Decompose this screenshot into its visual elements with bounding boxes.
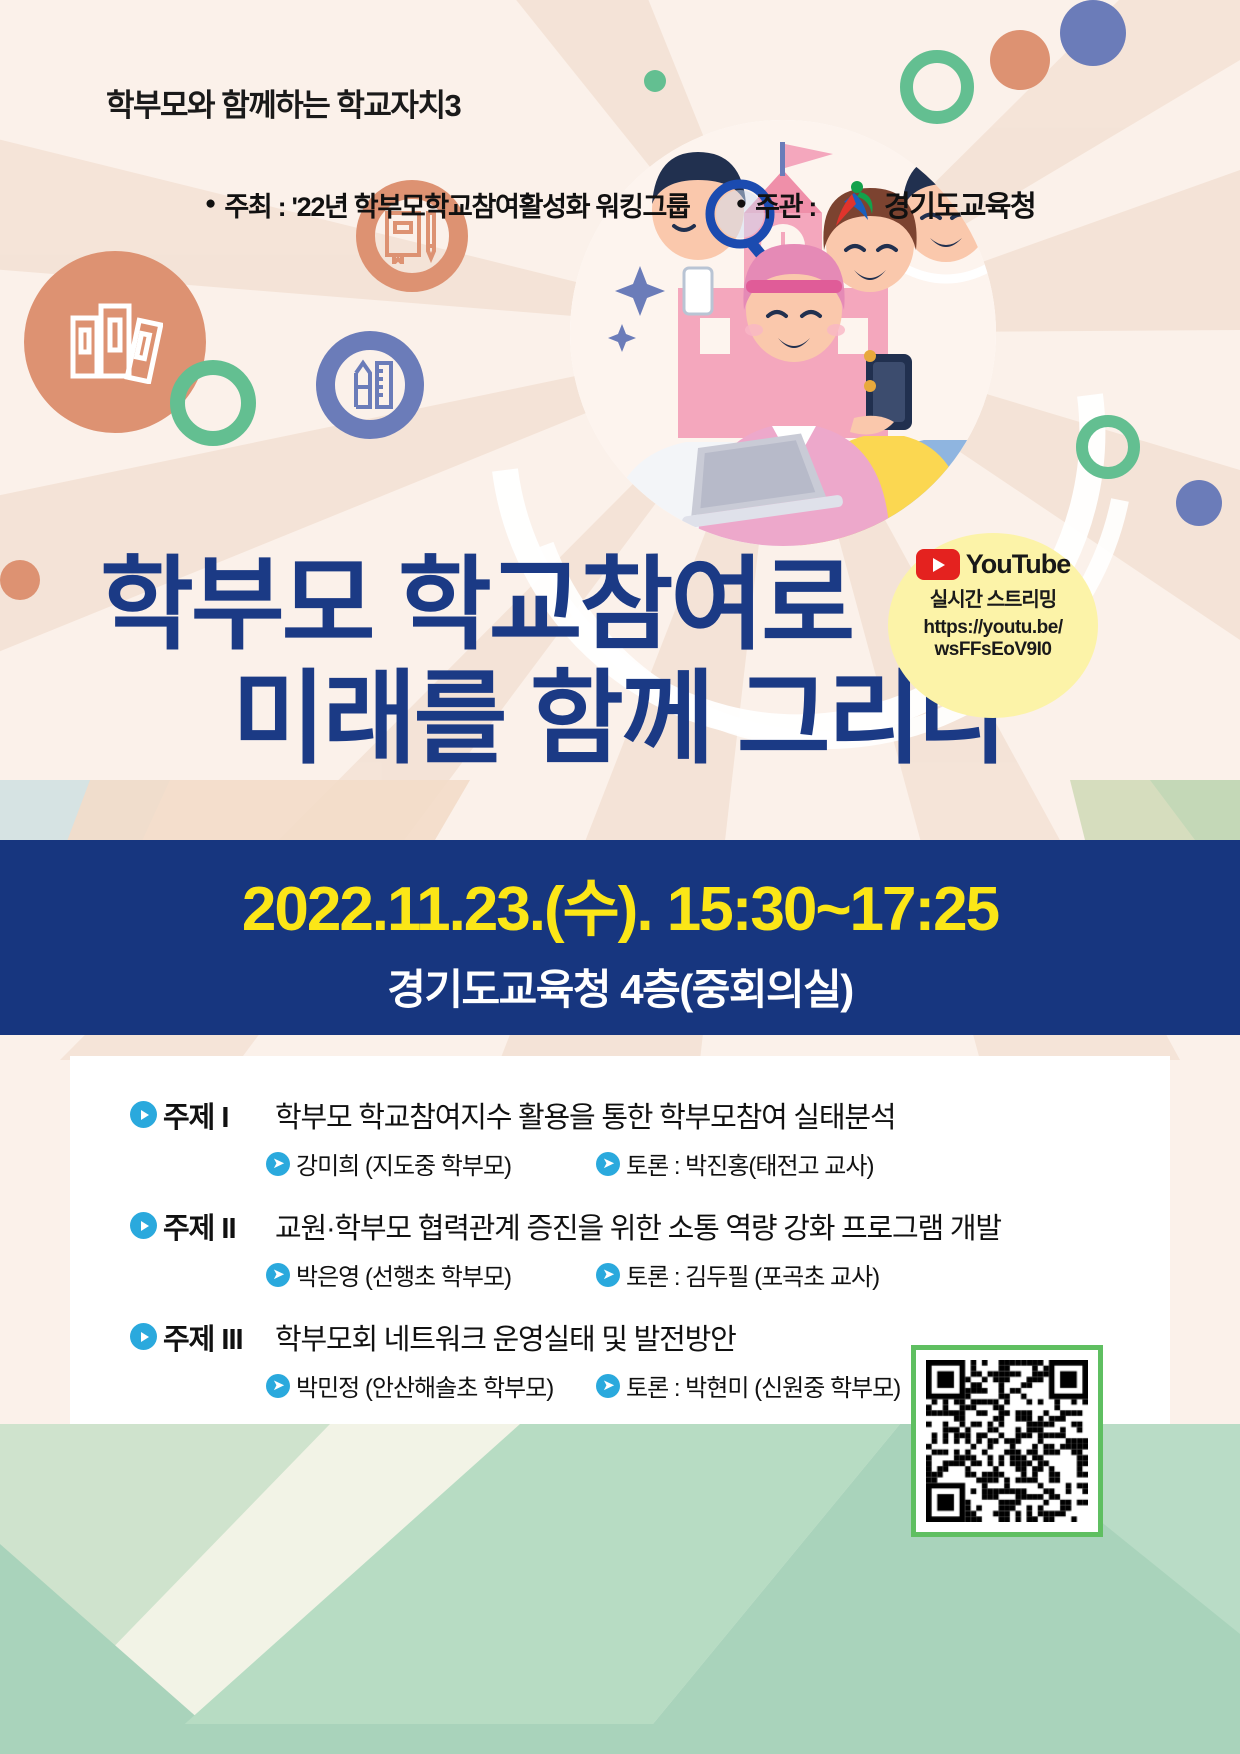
youtube-logo: YouTube (916, 549, 1070, 580)
arrow-right-icon: ➤ (596, 1374, 620, 1398)
qr-code-canvas (926, 1360, 1088, 1522)
session-2-discussant: ➤ 토론 : 김두필 (포곡초 교사) (596, 1257, 879, 1292)
play-bullet-icon (130, 1323, 157, 1350)
footer-organizer: ● 주관 : 경기도교육청 (736, 180, 1036, 228)
youtube-url-line1: https://youtu.be/ (923, 617, 1062, 638)
play-bullet-icon (130, 1212, 157, 1239)
qr-code-icon[interactable] (911, 1345, 1103, 1537)
green-ring-top (900, 50, 974, 124)
session-2-number: 주제 II (163, 1205, 275, 1247)
youtube-subtitle: 실시간 스트리밍 (930, 583, 1056, 612)
session-3-presenter: ➤ 박민정 (안산해솔초 학부모) (266, 1368, 596, 1403)
session-1-title: 학부모 학교참여지수 활용을 통한 학부모참여 실태분석 (275, 1094, 895, 1136)
poster-canvas: 학부모와 함께하는 학교자치3 YouTube 실시간 스트리밍 https:/… (0, 0, 1240, 1754)
session-1-header: 주제 I 학부모 학교참여지수 활용을 통한 학부모참여 실태분석 (70, 1094, 1170, 1136)
bullet-dot-icon: ● (205, 193, 216, 215)
youtube-play-icon (916, 549, 960, 580)
session-1-people: ➤ 강미희 (지도중 학부모) ➤ 토론 : 박진홍(태전고 교사) (70, 1146, 1170, 1181)
periwinkle-dot-top (1060, 0, 1126, 66)
pencil-ruler-icon-circle (316, 331, 424, 439)
footer-credits: ● 주최 : '22년 학부모학교참여활성화 워킹그룹 ● 주관 : 경기도교육… (0, 180, 1240, 228)
session-1-discussant: ➤ 토론 : 박진홍(태전고 교사) (596, 1146, 873, 1181)
schedule-band: 2022.11.23.(수). 15:30~17:25 경기도교육청 4층(중회… (0, 840, 1240, 1035)
play-bullet-icon (130, 1101, 157, 1128)
event-date-time: 2022.11.23.(수). 15:30~17:25 (242, 858, 998, 948)
green-ring-right (1076, 415, 1140, 479)
arrow-right-icon: ➤ (596, 1152, 620, 1176)
youtube-url-line2: wsFFsEoV9I0 (934, 639, 1051, 660)
green-dot-small (644, 70, 666, 92)
session-1-presenter: ➤ 강미희 (지도중 학부모) (266, 1146, 596, 1181)
periwinkle-dot-right (1176, 480, 1222, 526)
page-title: 학부모 학교참여로 미래를 함께 그리다 (0, 548, 1040, 776)
arrow-right-icon: ➤ (266, 1374, 290, 1398)
bullet-dot-icon: ● (736, 193, 747, 215)
session-2: 주제 II 교원·학부모 협력관계 증진을 위한 소통 역량 강화 프로그램 개… (70, 1205, 1170, 1292)
session-1-number: 주제 I (163, 1094, 275, 1136)
gyeonggi-education-logo: 경기도교육청 (830, 180, 1035, 228)
event-venue: 경기도교육청 4층(중회의실) (387, 956, 853, 1017)
youtube-url[interactable]: https://youtu.be/ wsFFsEoV9I0 (923, 617, 1062, 662)
session-3-discussant: ➤ 토론 : 박현미 (신원중 학부모) (596, 1368, 900, 1403)
arrow-right-icon: ➤ (596, 1263, 620, 1287)
page-kicker: 학부모와 함께하는 학교자치3 (106, 80, 460, 125)
pencil-ruler-icon (344, 357, 396, 413)
youtube-wordmark: YouTube (966, 549, 1070, 580)
title-line-1: 학부모 학교참여로 (0, 548, 1040, 662)
arrow-right-icon: ➤ (266, 1263, 290, 1287)
youtube-live-badge[interactable]: YouTube 실시간 스트리밍 https://youtu.be/ wsFFs… (888, 533, 1098, 718)
title-line-2: 미래를 함께 그리다 (0, 662, 1040, 776)
green-ring-small (170, 360, 256, 446)
session-2-people: ➤ 박은영 (선행초 학부모) ➤ 토론 : 김두필 (포곡초 교사) (70, 1257, 1170, 1292)
session-2-title: 교원·학부모 협력관계 증진을 위한 소통 역량 강화 프로그램 개발 (275, 1205, 1001, 1247)
session-2-presenter: ➤ 박은영 (선행초 학부모) (266, 1257, 596, 1292)
terracotta-dot-top (990, 30, 1050, 90)
session-3-number: 주제 III (163, 1316, 275, 1358)
books-icon (67, 300, 163, 384)
footer-host: ● 주최 : '22년 학부모학교참여활성화 워킹그룹 (205, 185, 690, 224)
session-2-header: 주제 II 교원·학부모 협력관계 증진을 위한 소통 역량 강화 프로그램 개… (70, 1205, 1170, 1247)
arrow-right-icon: ➤ (266, 1152, 290, 1176)
session-1: 주제 I 학부모 학교참여지수 활용을 통한 학부모참여 실태분석 ➤ 강미희 … (70, 1094, 1170, 1181)
session-3-title: 학부모회 네트워크 운영실태 및 발전방안 (275, 1316, 736, 1358)
gyeonggi-logo-mark (830, 180, 876, 228)
